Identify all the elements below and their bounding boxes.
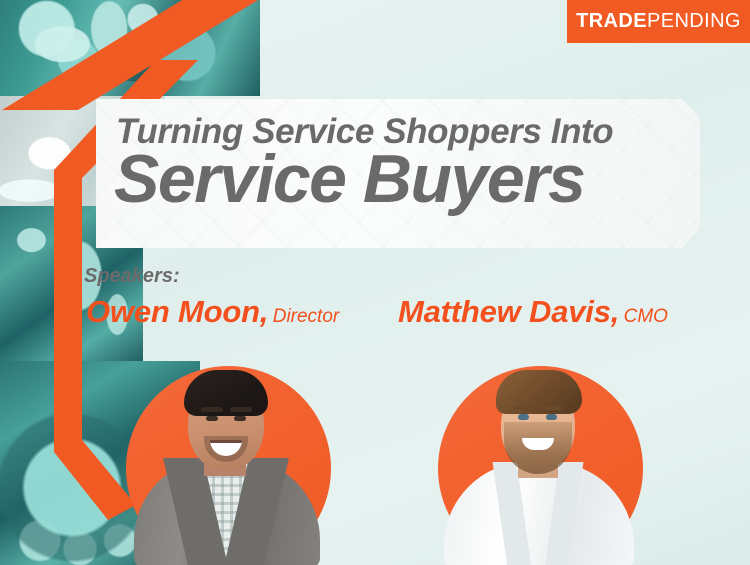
- logo-word-pending: PENDING: [647, 10, 741, 32]
- eye-left: [518, 414, 529, 420]
- hair: [496, 370, 582, 414]
- eye-right: [234, 416, 246, 421]
- tradepending-logo[interactable]: TRADEPENDING: [567, 0, 750, 43]
- title-line-2: Service Buyers: [114, 145, 584, 213]
- webinar-title-slide: Turning Service Shoppers Into Service Bu…: [0, 0, 750, 565]
- speaker-1-name: Owen Moon, Director: [86, 294, 339, 330]
- title-panel: Turning Service Shoppers Into Service Bu…: [96, 99, 700, 248]
- speaker-2-role: CMO: [624, 306, 668, 327]
- logo-text: TRADEPENDING: [576, 10, 741, 33]
- eyebrow-right: [542, 406, 562, 410]
- eyebrow-left: [201, 407, 223, 412]
- eyebrow-left: [513, 406, 533, 410]
- speaker-2-name: Matthew Davis, CMO: [398, 294, 668, 330]
- speakers-label: Speakers:: [84, 265, 180, 288]
- speaker-2-full-name: Matthew Davis,: [398, 294, 619, 329]
- speaker-1-portrait: [106, 350, 346, 565]
- speaker-1-full-name: Owen Moon,: [86, 294, 268, 329]
- speaker-1-role: Director: [273, 306, 340, 327]
- eyebrow-right: [230, 407, 252, 412]
- speaker-2-portrait: [418, 350, 658, 565]
- speaker-2-figure: [418, 350, 658, 565]
- eye-left: [206, 416, 218, 421]
- speaker-1-figure: [106, 350, 346, 565]
- logo-word-trade: TRADE: [576, 10, 647, 32]
- hair: [184, 370, 268, 416]
- eye-right: [546, 414, 557, 420]
